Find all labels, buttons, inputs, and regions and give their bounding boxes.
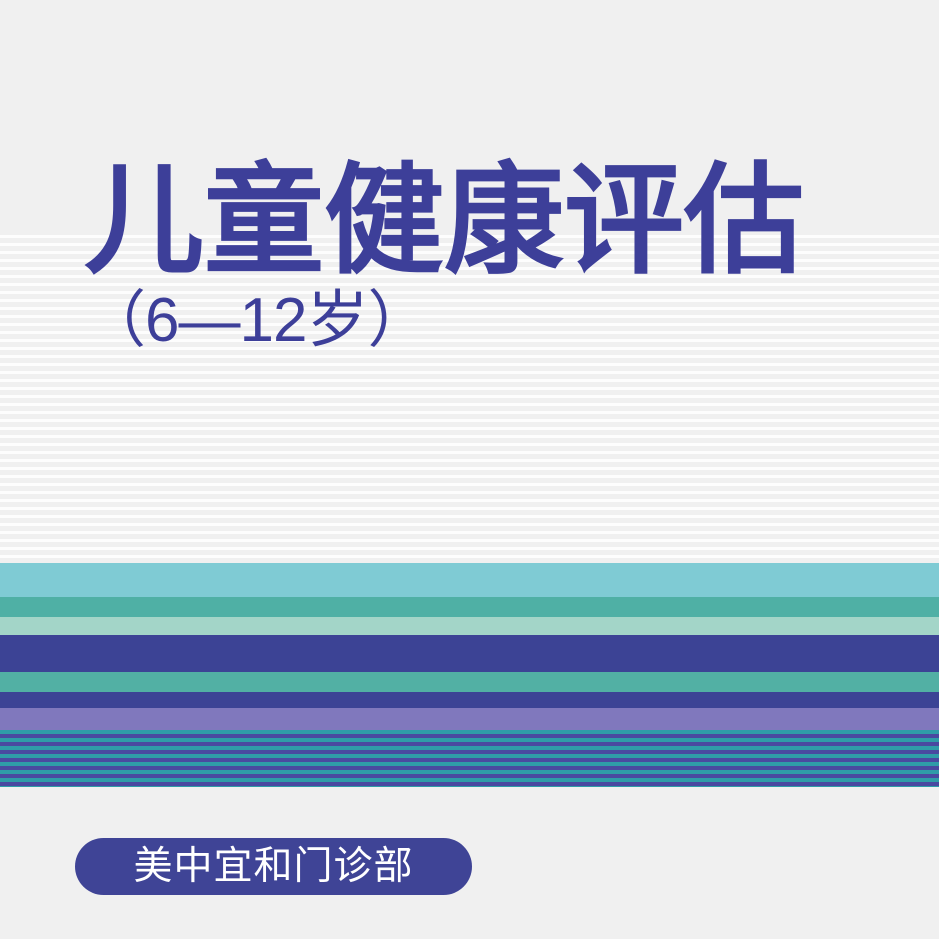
- decorative-band-stack: [0, 563, 939, 787]
- page-subtitle: （6—12岁）: [84, 288, 884, 353]
- headline-block: 儿童健康评估 （6—12岁）: [84, 160, 884, 353]
- poster-canvas: 儿童健康评估 （6—12岁） 美中宜和门诊部: [0, 0, 939, 939]
- brand-badge: 美中宜和门诊部: [75, 838, 472, 895]
- band-deep-indigo-2: [0, 692, 939, 708]
- band-fine-teal-indigo-stripes: [0, 730, 939, 787]
- band-medium-teal: [0, 597, 939, 617]
- band-medium-teal-2: [0, 672, 939, 692]
- band-deep-indigo: [0, 635, 939, 672]
- brand-badge-label: 美中宜和门诊部: [133, 847, 413, 886]
- band-light-purple: [0, 708, 939, 730]
- band-light-teal: [0, 563, 939, 597]
- page-title: 儿童健康评估: [84, 160, 884, 282]
- band-pale-mint: [0, 617, 939, 635]
